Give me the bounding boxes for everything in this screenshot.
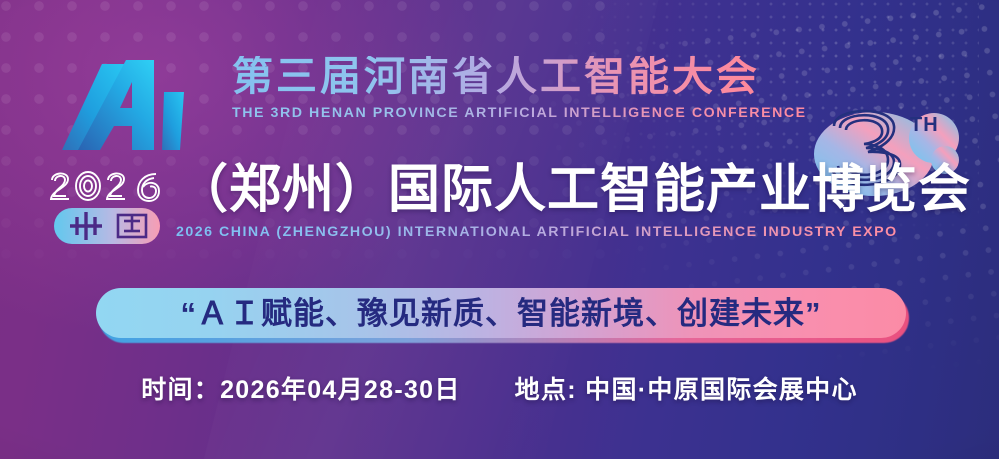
event-info-row: 时间：2026年04月28-30日 地点: 中国·中原国际会展中心	[0, 370, 999, 406]
slogan-pill: “ＡＩ赋能、豫见新质、智能新境、创建未来”	[96, 288, 906, 338]
headline-row-primary: 第三届河南省人工智能大会 THE 3RD HENAN PROVINCE ARTI…	[0, 48, 999, 156]
svg-text:TH: TH	[910, 114, 939, 136]
expo-title-en: 2026 CHINA (ZHENGZHOU) INTERNATIONAL ART…	[176, 225, 971, 239]
headline-row-secondary: （郑州）国际人工智能产业博览会 2026 CHINA (ZHENGZHOU) I…	[0, 166, 999, 268]
event-date: 时间：2026年04月28-30日	[141, 370, 460, 406]
secondary-title-block: （郑州）国际人工智能产业博览会 2026 CHINA (ZHENGZHOU) I…	[176, 164, 971, 239]
primary-title-block: 第三届河南省人工智能大会 THE 3RD HENAN PROVINCE ARTI…	[232, 56, 807, 120]
year-2026-china-mark-icon	[46, 168, 168, 246]
slogan-text: “ＡＩ赋能、豫见新质、智能新境、创建未来”	[181, 298, 822, 329]
conference-banner: 第三届河南省人工智能大会 THE 3RD HENAN PROVINCE ARTI…	[0, 0, 999, 459]
event-venue: 地点: 中国·中原国际会展中心	[515, 370, 858, 406]
expo-title-cn: （郑州）国际人工智能产业博览会	[176, 164, 971, 217]
conference-title-en: THE 3RD HENAN PROVINCE ARTIFICIAL INTELL…	[232, 106, 807, 120]
conference-title-cn: 第三届河南省人工智能大会	[232, 56, 807, 97]
ai-monogram-logo-icon	[62, 54, 194, 154]
slogan-banner: “ＡＩ赋能、豫见新质、智能新境、创建未来”	[96, 288, 906, 338]
